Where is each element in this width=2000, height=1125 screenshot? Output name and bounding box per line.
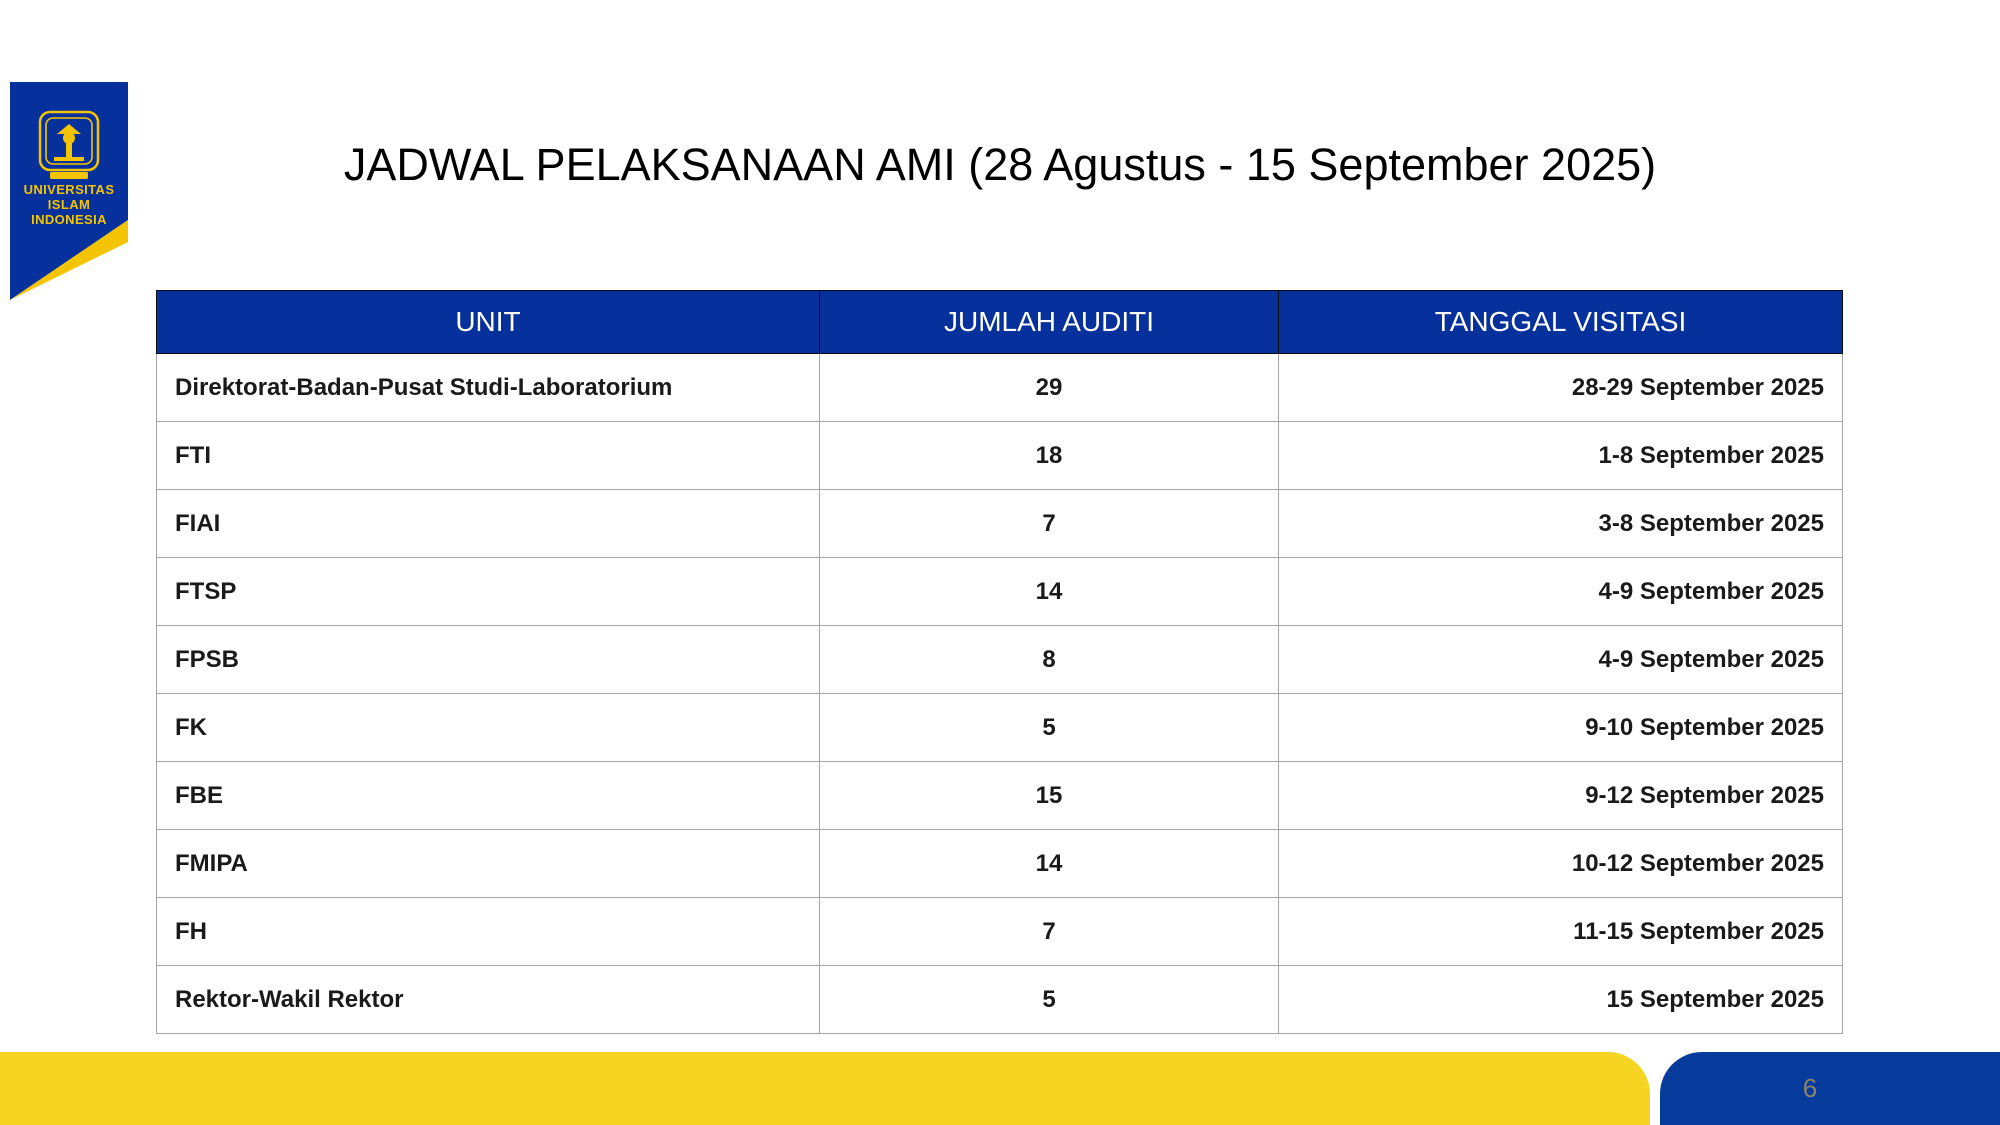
cell-count: 7 (820, 490, 1279, 558)
table-row: FPSB 8 4-9 September 2025 (157, 626, 1843, 694)
cell-count: 8 (820, 626, 1279, 694)
cell-count: 5 (820, 694, 1279, 762)
table-row: FMIPA 14 10-12 September 2025 (157, 830, 1843, 898)
table-header-row: UNIT JUMLAH AUDITI TANGGAL VISITASI (157, 291, 1843, 354)
cell-unit: Direktorat-Badan-Pusat Studi-Laboratoriu… (157, 354, 820, 422)
cell-date: 4-9 September 2025 (1279, 558, 1843, 626)
logo-wordmark-line-2: ISLAM (10, 197, 128, 212)
cell-count: 14 (820, 558, 1279, 626)
cell-count: 18 (820, 422, 1279, 490)
cell-date: 4-9 September 2025 (1279, 626, 1843, 694)
cell-date: 28-29 September 2025 (1279, 354, 1843, 422)
cell-date: 10-12 September 2025 (1279, 830, 1843, 898)
logo-wordmark: UNIVERSITAS ISLAM INDONESIA (10, 182, 128, 227)
table-row: FTI 18 1-8 September 2025 (157, 422, 1843, 490)
cell-count: 29 (820, 354, 1279, 422)
column-header-count: JUMLAH AUDITI (820, 291, 1279, 354)
cell-date: 9-10 September 2025 (1279, 694, 1843, 762)
cell-count: 7 (820, 898, 1279, 966)
cell-date: 3-8 September 2025 (1279, 490, 1843, 558)
cell-unit: FH (157, 898, 820, 966)
cell-unit: FTSP (157, 558, 820, 626)
ami-schedule-table: UNIT JUMLAH AUDITI TANGGAL VISITASI Dire… (156, 290, 1843, 1034)
column-header-date: TANGGAL VISITASI (1279, 291, 1843, 354)
cell-unit: FBE (157, 762, 820, 830)
table-row: Rektor-Wakil Rektor 5 15 September 2025 (157, 966, 1843, 1034)
cell-count: 15 (820, 762, 1279, 830)
cell-unit: FMIPA (157, 830, 820, 898)
cell-date: 1-8 September 2025 (1279, 422, 1843, 490)
slide-title: JADWAL PELAKSANAAN AMI (28 Agustus - 15 … (155, 138, 1845, 192)
cell-date: 15 September 2025 (1279, 966, 1843, 1034)
cell-date: 11-15 September 2025 (1279, 898, 1843, 966)
cell-count: 14 (820, 830, 1279, 898)
column-header-unit: UNIT (157, 291, 820, 354)
table-row: FTSP 14 4-9 September 2025 (157, 558, 1843, 626)
footer-yellow-bar (0, 1052, 1650, 1125)
university-logo-banner: UNIVERSITAS ISLAM INDONESIA (10, 82, 128, 300)
logo-wordmark-line-1: UNIVERSITAS (10, 182, 128, 197)
page-number: 6 (1660, 1052, 1960, 1125)
uii-emblem-icon (36, 110, 102, 182)
cell-unit: FK (157, 694, 820, 762)
cell-unit: FPSB (157, 626, 820, 694)
logo-wordmark-line-3: INDONESIA (10, 212, 128, 227)
cell-unit: FIAI (157, 490, 820, 558)
table-row: FBE 15 9-12 September 2025 (157, 762, 1843, 830)
table-row: FIAI 7 3-8 September 2025 (157, 490, 1843, 558)
cell-unit: Rektor-Wakil Rektor (157, 966, 820, 1034)
cell-date: 9-12 September 2025 (1279, 762, 1843, 830)
table-row: Direktorat-Badan-Pusat Studi-Laboratoriu… (157, 354, 1843, 422)
table-row: FH 7 11-15 September 2025 (157, 898, 1843, 966)
cell-unit: FTI (157, 422, 820, 490)
cell-count: 5 (820, 966, 1279, 1034)
table-row: FK 5 9-10 September 2025 (157, 694, 1843, 762)
